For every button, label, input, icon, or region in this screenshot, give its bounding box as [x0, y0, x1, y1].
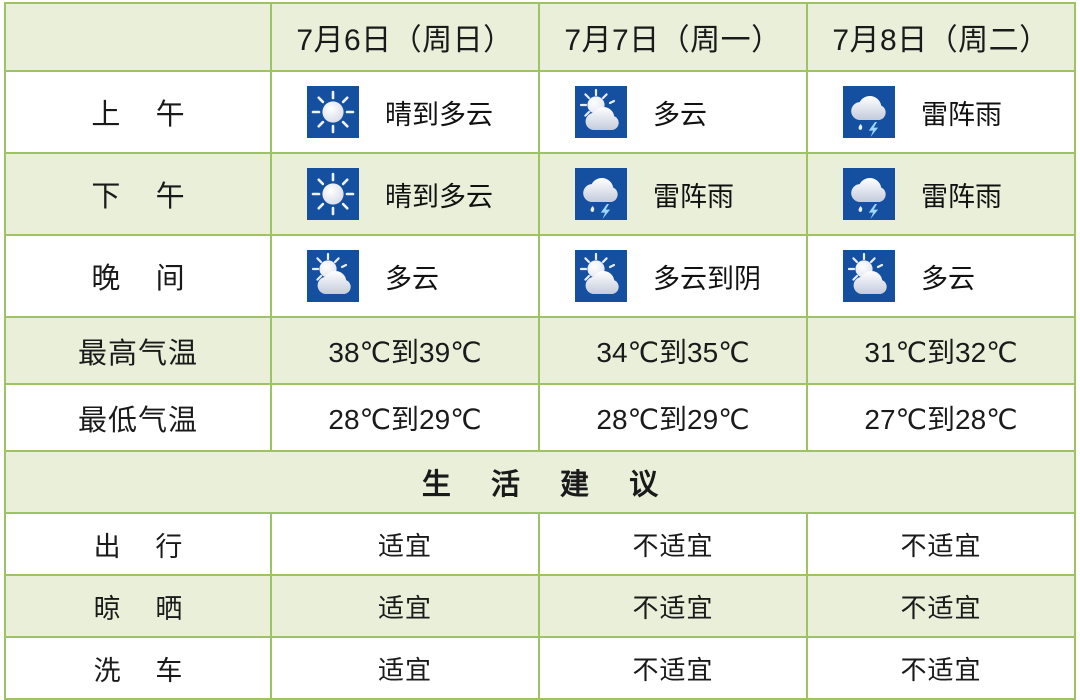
min-temp-day1: 28℃到29℃ [271, 384, 539, 451]
thunderstorm-icon [843, 168, 895, 220]
weather-cell-morning-day3: 雷阵雨 [807, 71, 1075, 153]
max-temp-day1: 38℃到39℃ [271, 317, 539, 384]
weather-cell-afternoon-day3: 雷阵雨 [807, 153, 1075, 235]
row-label-min-temp: 最低气温 [5, 384, 271, 451]
weather-cell-evening-day2: 多云到阴 [539, 235, 807, 317]
weather-text-evening-day3: 多云 [921, 257, 1039, 296]
weather-text-evening-day2: 多云到阴 [653, 257, 771, 296]
advice-drying-day3: 不适宜 [807, 575, 1075, 637]
advice-carwash-day3: 不适宜 [807, 637, 1075, 699]
row-label-carwash: 洗 车 [5, 637, 271, 699]
row-label-max-temp: 最高气温 [5, 317, 271, 384]
weather-text-evening-day1: 多云 [385, 257, 503, 296]
row-label-evening: 晚 间 [5, 235, 271, 317]
header-corner-cell [5, 3, 271, 71]
table-row-evening: 晚 间 [5, 235, 1075, 317]
weather-text-morning-day2: 多云 [653, 93, 771, 132]
weather-text-afternoon-day1: 晴到多云 [385, 175, 503, 214]
column-header-day2: 7月7日（周一） [539, 3, 807, 71]
weather-cell-morning-day2: 多云 [539, 71, 807, 153]
thunderstorm-icon [843, 86, 895, 138]
weather-cell-evening-day3: 多云 [807, 235, 1075, 317]
weather-cell-evening-day1: 多云 [271, 235, 539, 317]
table-row-max-temp: 最高气温 38℃到39℃ 34℃到35℃ 31℃到32℃ [5, 317, 1075, 384]
advice-travel-day1: 适宜 [271, 513, 539, 575]
sunny-icon [307, 168, 359, 220]
partly-cloudy-icon [575, 86, 627, 138]
weather-text-afternoon-day2: 雷阵雨 [653, 175, 771, 214]
weather-cell-afternoon-day1: 晴到多云 [271, 153, 539, 235]
table-row-min-temp: 最低气温 28℃到29℃ 28℃到29℃ 27℃到28℃ [5, 384, 1075, 451]
column-header-day3: 7月8日（周二） [807, 3, 1075, 71]
min-temp-day3: 27℃到28℃ [807, 384, 1075, 451]
table-row-section-title: 生 活 建 议 [5, 451, 1075, 513]
advice-carwash-day1: 适宜 [271, 637, 539, 699]
column-header-day1: 7月6日（周日） [271, 3, 539, 71]
weather-text-afternoon-day3: 雷阵雨 [921, 175, 1039, 214]
table-header-row: 7月6日（周日） 7月7日（周一） 7月8日（周二） [5, 3, 1075, 71]
table-row-advice-travel: 出 行 适宜 不适宜 不适宜 [5, 513, 1075, 575]
advice-drying-day1: 适宜 [271, 575, 539, 637]
partly-cloudy-icon [575, 250, 627, 302]
table-row-morning: 上 午 [5, 71, 1075, 153]
table-row-afternoon: 下 午 [5, 153, 1075, 235]
section-title-life-advice: 生 活 建 议 [5, 451, 1075, 513]
thunderstorm-icon [575, 168, 627, 220]
row-label-travel: 出 行 [5, 513, 271, 575]
partly-cloudy-icon [843, 250, 895, 302]
row-label-afternoon: 下 午 [5, 153, 271, 235]
weather-forecast-panel: 7月6日（周日） 7月7日（周一） 7月8日（周二） 上 午 [0, 0, 1080, 699]
min-temp-day2: 28℃到29℃ [539, 384, 807, 451]
partly-cloudy-icon [307, 250, 359, 302]
row-label-drying: 晾 晒 [5, 575, 271, 637]
weather-cell-morning-day1: 晴到多云 [271, 71, 539, 153]
weather-forecast-table: 7月6日（周日） 7月7日（周一） 7月8日（周二） 上 午 [4, 2, 1076, 700]
weather-cell-afternoon-day2: 雷阵雨 [539, 153, 807, 235]
weather-text-morning-day1: 晴到多云 [385, 93, 503, 132]
advice-carwash-day2: 不适宜 [539, 637, 807, 699]
table-row-advice-carwash: 洗 车 适宜 不适宜 不适宜 [5, 637, 1075, 699]
advice-drying-day2: 不适宜 [539, 575, 807, 637]
advice-travel-day3: 不适宜 [807, 513, 1075, 575]
sunny-icon [307, 86, 359, 138]
max-temp-day2: 34℃到35℃ [539, 317, 807, 384]
max-temp-day3: 31℃到32℃ [807, 317, 1075, 384]
row-label-morning: 上 午 [5, 71, 271, 153]
table-row-advice-drying: 晾 晒 适宜 不适宜 不适宜 [5, 575, 1075, 637]
weather-text-morning-day3: 雷阵雨 [921, 93, 1039, 132]
advice-travel-day2: 不适宜 [539, 513, 807, 575]
